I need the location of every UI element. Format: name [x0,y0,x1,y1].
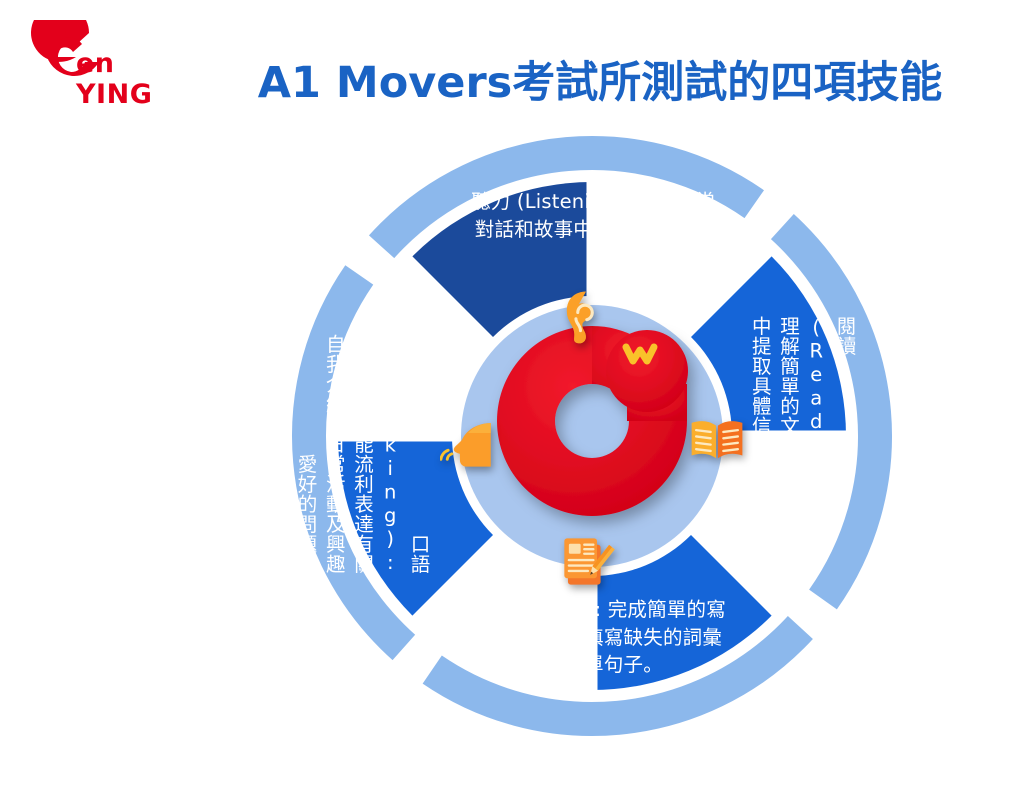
document-pencil-icon [558,532,616,590]
speaking-head-icon [440,414,498,472]
skills-wheel: 聽力 (Listening): 理解日常對話和故事中的關鍵信息。 閱讀 (Rea… [282,126,902,746]
page-title: A1 Movers考試所測試的四項技能 [190,48,1010,110]
brand-logo: en YING [18,20,168,94]
segment-label-writing: 寫作 (Writing): 完成簡單的寫作任務，包括填寫缺失的詞彙和寫簡單句子。 [460,596,728,679]
segment-label-reading: 閱讀 (Reading): 理解簡單的文章和文本，從中提取具體信息。 [768,316,858,574]
header: en YING A1 Movers考試所測試的四項技能 [0,0,1024,128]
open-book-icon [688,412,746,470]
brand-logo-text: en YING [76,48,168,110]
ear-icon [556,288,614,346]
segment-label-listening: 聽力 (Listening): 理解日常對話和故事中的關鍵信息。 [462,188,724,243]
segment-label-speaking: 口語 (Speaking): 參與對話並能流利表達有關自我介紹、日常活動及興趣愛… [332,316,432,574]
